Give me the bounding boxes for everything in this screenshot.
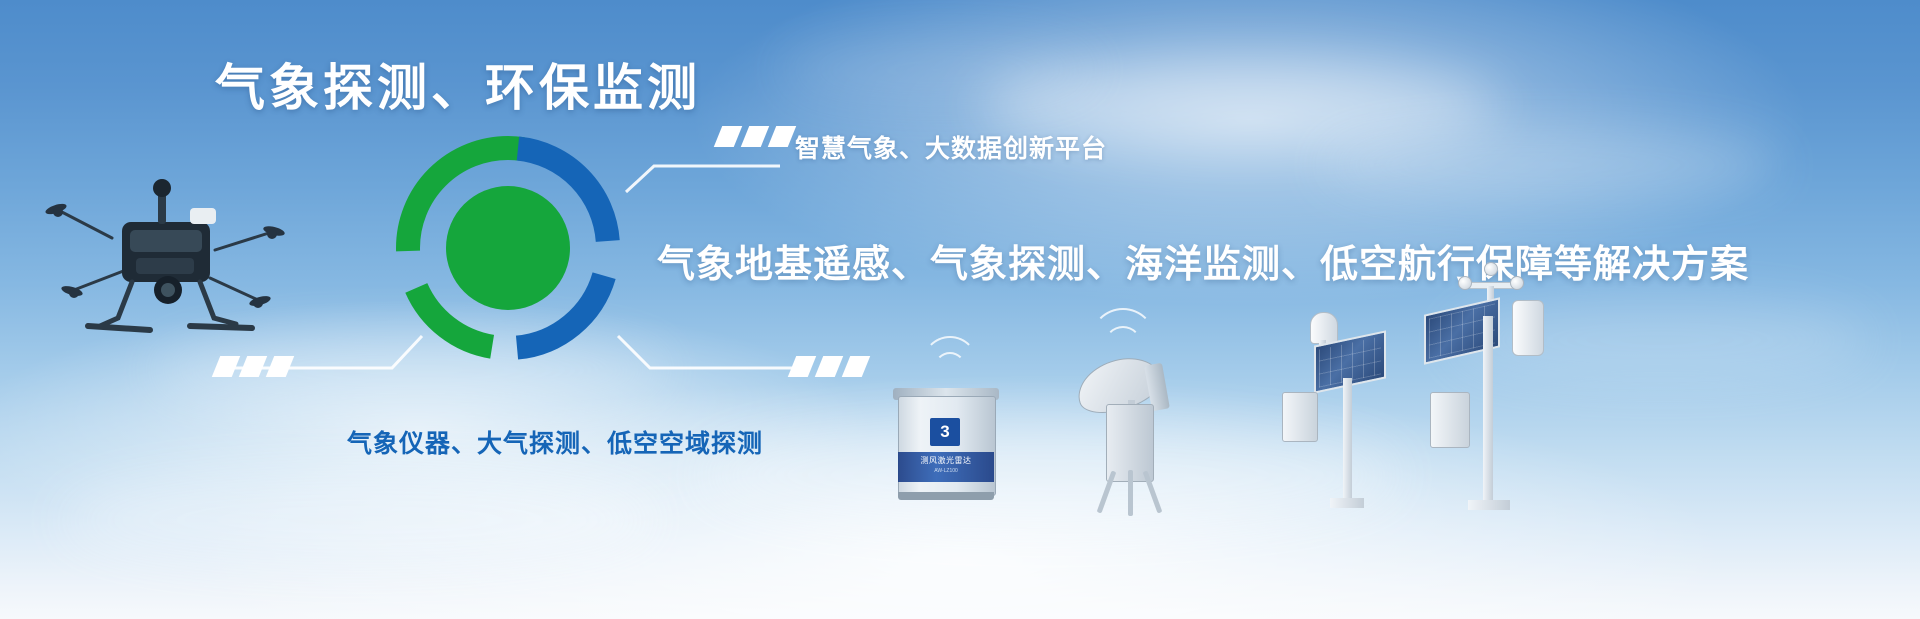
radiation-shield-sensor: [1512, 300, 1544, 356]
drone-illustration: [40, 150, 290, 350]
cloud-wisp: [780, 40, 1100, 100]
station-mast: [1343, 378, 1352, 504]
anemometer-cup: [1458, 276, 1472, 290]
equipment-enclosure: [1430, 392, 1470, 448]
cloud-wisp: [60, 470, 660, 570]
lidar-model-label: AW-LZ100: [900, 468, 992, 474]
accent-slashes-top: [718, 126, 792, 147]
callout-text-main: 气象地基遥感、气象探测、海洋监测、低空航行保障等解决方案: [657, 233, 1749, 288]
cloud-wisp: [1320, 130, 1780, 200]
hero-banner: 气象探测、环保监测: [0, 0, 1920, 619]
accent-slashes-bottom-left: [216, 356, 290, 377]
station-base: [1330, 498, 1364, 508]
callout-text-top: 智慧气象、大数据创新平台: [795, 129, 1107, 165]
callout-text-bottom: 气象仪器、大气探测、低空空域探测: [347, 424, 763, 460]
accent-slashes-bottom-right: [792, 356, 866, 377]
tripod-leg: [1128, 470, 1133, 516]
signal-arc: [934, 352, 966, 384]
lidar-name-label: 测风激光雷达: [900, 455, 992, 466]
anemometer-cup: [1510, 276, 1524, 290]
lidar-base: [898, 492, 994, 500]
lidar-brand-logo: 3: [930, 418, 960, 446]
equipment-enclosure: [1282, 392, 1318, 442]
donut-graphic: [388, 128, 628, 368]
station-base: [1468, 500, 1510, 510]
banner-headline: 气象探测、环保监测: [215, 48, 701, 120]
anemometer-cup: [1484, 262, 1498, 276]
station-mast: [1483, 316, 1493, 506]
